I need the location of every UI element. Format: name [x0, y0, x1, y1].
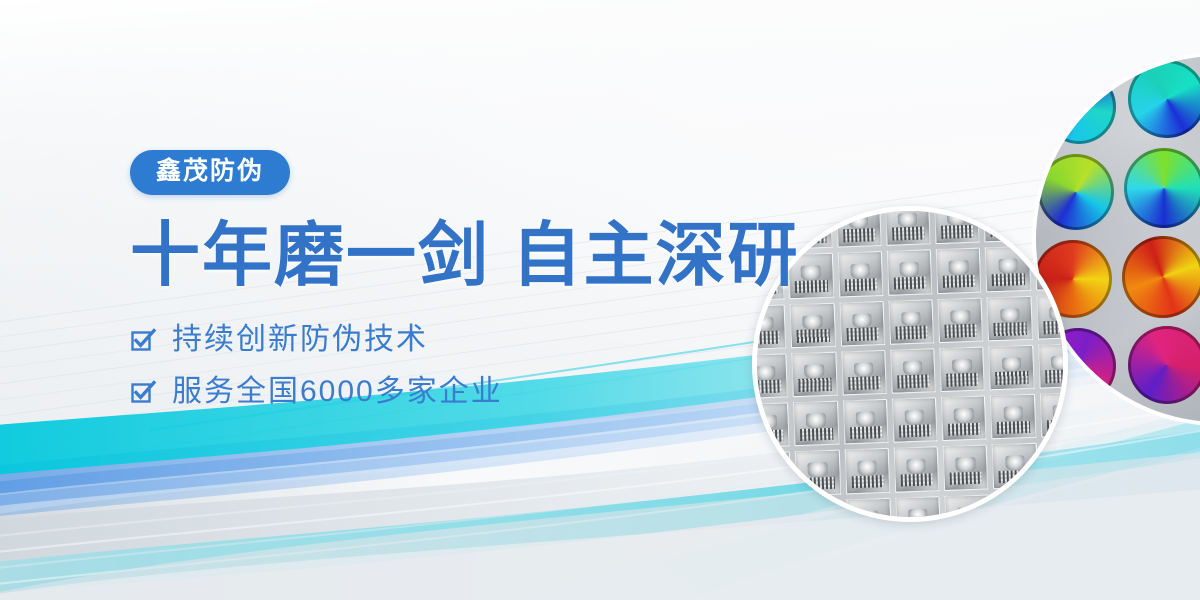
holo-sticker	[1122, 236, 1200, 318]
silver-sticker	[892, 397, 938, 443]
silver-sticker	[890, 348, 936, 394]
silver-sticker	[887, 250, 933, 296]
page-title: 十年磨一剑 自主深研	[130, 219, 790, 293]
silver-sticker	[752, 452, 792, 498]
promo-banner: 鑫茂防伪 十年磨一剑 自主深研 持续创新防伪技术	[0, 0, 1200, 600]
silver-sticker	[941, 396, 987, 442]
silver-sticker	[936, 248, 982, 294]
silver-sticker	[793, 401, 839, 447]
checkbox-checked-icon	[130, 327, 156, 353]
feature-label: 持续创新防伪技术	[172, 325, 428, 355]
feature-label: 服务全国6000多家企业	[172, 377, 503, 407]
silver-sticker	[836, 206, 882, 248]
silver-sticker	[837, 251, 883, 297]
list-item: 持续创新防伪技术	[130, 325, 790, 355]
silver-sticker	[1034, 244, 1068, 290]
silver-sticker	[1038, 343, 1068, 389]
silver-sticker	[990, 394, 1036, 440]
feature-list: 持续创新防伪技术 服务全国6000多家企业	[130, 325, 790, 407]
silver-sticker	[885, 206, 931, 246]
holo-sticker	[1128, 60, 1200, 138]
silver-sticker	[939, 346, 985, 392]
holo-sticker	[1042, 70, 1116, 144]
holo-sticker	[1124, 148, 1200, 228]
silver-sticker	[844, 448, 890, 494]
holo-sticker	[1128, 326, 1200, 404]
silver-sticker	[792, 352, 838, 398]
silver-sticker	[1033, 206, 1068, 241]
brand-badge: 鑫茂防伪	[130, 150, 290, 195]
silver-sticker	[987, 295, 1033, 341]
silver-sticker	[985, 246, 1031, 292]
silver-sticker	[938, 297, 984, 343]
silver-sticker	[943, 445, 989, 491]
silver-sticker	[843, 399, 889, 445]
silver-sticker	[841, 350, 887, 396]
silver-sticker	[934, 206, 980, 244]
silver-sticker	[895, 496, 941, 522]
silver-sticker	[839, 301, 885, 347]
silver-sticker	[888, 299, 934, 345]
silver-sticker-grid	[752, 206, 1068, 522]
silver-sticker	[983, 206, 1029, 243]
silver-sticker	[795, 450, 841, 496]
checkbox-checked-icon	[130, 379, 156, 405]
silver-square-labels-photo	[752, 206, 1068, 522]
silver-sticker	[989, 345, 1035, 391]
banner-content: 鑫茂防伪 十年磨一剑 自主深研 持续创新防伪技术	[130, 150, 790, 429]
list-item: 服务全国6000多家企业	[130, 377, 790, 407]
silver-sticker	[790, 302, 836, 348]
silver-sticker	[992, 443, 1038, 489]
silver-sticker	[894, 447, 940, 493]
